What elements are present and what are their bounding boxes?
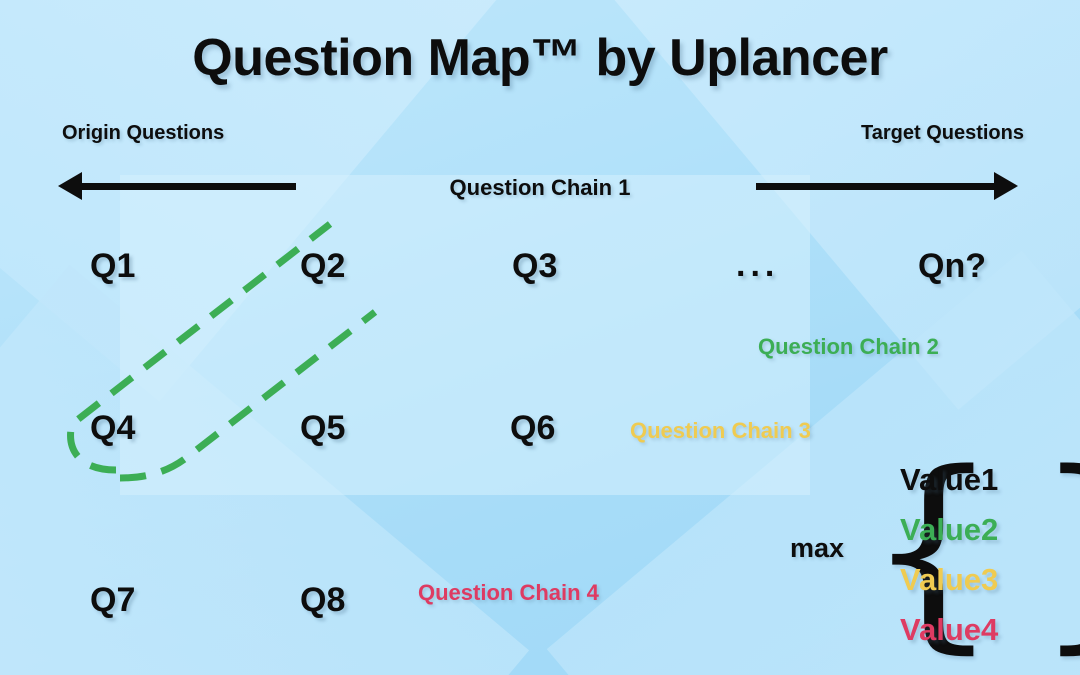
node-q8: Q8 — [300, 583, 345, 617]
chain1-axis-label: Question Chain 1 — [0, 175, 1080, 201]
origin-questions-label: Origin Questions — [62, 122, 224, 145]
node-q2: Q2 — [300, 249, 345, 283]
chain2-label: Question Chain 2 — [758, 334, 939, 360]
node-q6: Q6 — [510, 411, 555, 445]
node-qn: Qn? — [918, 249, 986, 283]
node-q3: Q3 — [512, 249, 557, 283]
node-q4: Q4 — [90, 411, 135, 445]
max-value-group: max { } Value1 Value2 Value3 Value4 — [782, 455, 1072, 660]
max-operator-label: max — [790, 533, 844, 564]
node-ellipsis: ... — [736, 246, 779, 285]
value-list: Value1 Value2 Value3 Value4 — [900, 455, 1040, 655]
value-item-4: Value4 — [900, 605, 1040, 655]
question-map-diagram: Question Map™ by Uplancer Origin Questio… — [0, 0, 1080, 675]
brace-right-icon: } — [1034, 451, 1080, 649]
background-panel — [120, 175, 810, 495]
value-item-2: Value2 — [900, 505, 1040, 555]
chain4-label: Question Chain 4 — [418, 580, 599, 606]
chain3-label: Question Chain 3 — [630, 418, 811, 444]
node-q7: Q7 — [90, 583, 135, 617]
page-title: Question Map™ by Uplancer — [0, 28, 1080, 88]
node-q1: Q1 — [90, 249, 135, 283]
target-questions-label: Target Questions — [861, 122, 1024, 145]
value-item-1: Value1 — [900, 455, 1040, 505]
value-item-3: Value3 — [900, 555, 1040, 605]
node-q5: Q5 — [300, 411, 345, 445]
